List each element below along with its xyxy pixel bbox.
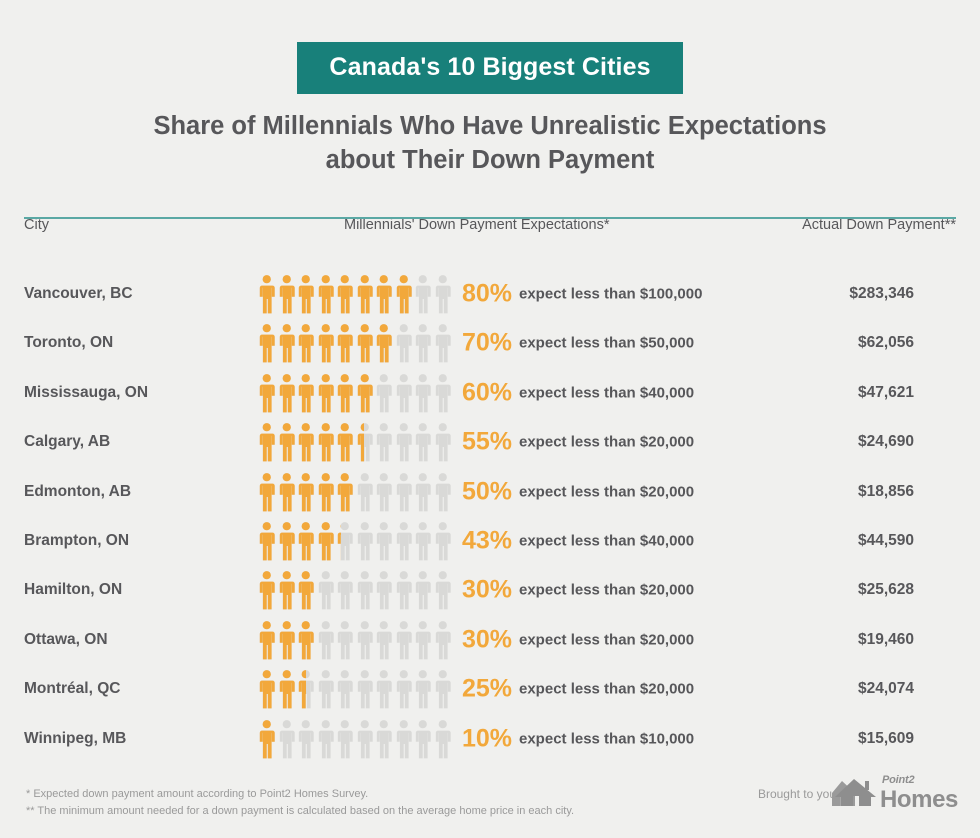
person-icon-empty bbox=[374, 373, 394, 413]
person-icon bbox=[257, 274, 277, 314]
person-icon-empty bbox=[433, 521, 453, 561]
person-icon bbox=[413, 274, 433, 314]
person-icon bbox=[316, 521, 336, 561]
person-icon bbox=[394, 570, 414, 610]
person-icon-empty bbox=[394, 472, 414, 512]
person-icon-filled bbox=[257, 620, 277, 660]
person-icon bbox=[355, 323, 375, 363]
person-icon-empty bbox=[355, 719, 375, 759]
person-icon bbox=[374, 323, 394, 363]
actual-down-payment: $24,690 bbox=[858, 433, 914, 451]
actual-down-payment: $47,621 bbox=[858, 384, 914, 402]
person-icon bbox=[394, 422, 414, 462]
table-row: Brampton, ON43%expect less than $40,000$… bbox=[0, 516, 980, 565]
person-icon bbox=[335, 570, 355, 610]
banner-title: Canada's 10 Biggest Cities bbox=[297, 42, 682, 94]
person-icon bbox=[374, 570, 394, 610]
person-icon bbox=[374, 719, 394, 759]
table-row: Calgary, AB55%expect less than $20,000$2… bbox=[0, 417, 980, 466]
table-row: Hamilton, ON30%expect less than $20,000$… bbox=[0, 566, 980, 615]
person-icon-filled bbox=[257, 521, 277, 561]
table-row: Edmonton, AB50%expect less than $20,000$… bbox=[0, 467, 980, 516]
person-icon-filled bbox=[335, 521, 341, 561]
person-icon-filled bbox=[316, 373, 336, 413]
person-icon-filled bbox=[316, 472, 336, 512]
person-icon-filled bbox=[355, 422, 365, 462]
person-icon bbox=[374, 422, 394, 462]
city-label: Edmonton, AB bbox=[24, 483, 131, 501]
person-icon bbox=[355, 521, 375, 561]
actual-down-payment: $283,346 bbox=[849, 285, 914, 303]
city-label: Mississauga, ON bbox=[24, 384, 148, 402]
person-icon bbox=[296, 274, 316, 314]
person-icon-filled bbox=[335, 472, 355, 512]
person-icon-empty bbox=[413, 719, 433, 759]
expectation-text: expect less than $20,000 bbox=[519, 582, 694, 599]
person-icon bbox=[374, 472, 394, 512]
person-icon bbox=[355, 422, 375, 462]
pictogram-group bbox=[257, 472, 452, 512]
person-icon-filled bbox=[316, 323, 336, 363]
city-label: Toronto, ON bbox=[24, 334, 113, 352]
person-icon bbox=[433, 422, 453, 462]
pictogram-group bbox=[257, 669, 452, 709]
person-icon-filled bbox=[394, 274, 414, 314]
person-icon bbox=[433, 323, 453, 363]
person-icon-empty bbox=[413, 570, 433, 610]
person-icon bbox=[355, 274, 375, 314]
percent-value: 43% bbox=[462, 526, 512, 555]
point2-homes-logo: Point2 Homes bbox=[831, 777, 958, 812]
house-icon bbox=[831, 777, 877, 812]
person-icon-filled bbox=[277, 570, 297, 610]
person-icon bbox=[316, 274, 336, 314]
person-icon bbox=[374, 373, 394, 413]
person-icon bbox=[433, 620, 453, 660]
person-icon-empty bbox=[413, 373, 433, 413]
infographic-header: Canada's 10 Biggest Cities Share of Mill… bbox=[0, 0, 980, 177]
person-icon bbox=[394, 620, 414, 660]
person-icon-empty bbox=[394, 422, 414, 462]
expectation-text: expect less than $100,000 bbox=[519, 286, 702, 303]
person-icon bbox=[296, 472, 316, 512]
person-icon bbox=[296, 620, 316, 660]
person-icon bbox=[277, 373, 297, 413]
person-icon-filled bbox=[296, 422, 316, 462]
person-icon-empty bbox=[316, 570, 336, 610]
person-icon bbox=[374, 521, 394, 561]
percent-value: 70% bbox=[462, 329, 512, 358]
person-icon-empty bbox=[433, 472, 453, 512]
person-icon-empty bbox=[394, 570, 414, 610]
person-icon bbox=[316, 719, 336, 759]
person-icon-empty bbox=[316, 669, 336, 709]
person-icon bbox=[335, 373, 355, 413]
header-divider-rule bbox=[24, 217, 956, 219]
person-icon-filled bbox=[374, 274, 394, 314]
person-icon-filled bbox=[257, 472, 277, 512]
person-icon bbox=[335, 620, 355, 660]
city-label: Ottawa, ON bbox=[24, 631, 108, 649]
person-icon-empty bbox=[277, 719, 297, 759]
pictogram-group bbox=[257, 620, 452, 660]
person-icon bbox=[355, 570, 375, 610]
table-row: Ottawa, ON30%expect less than $20,000$19… bbox=[0, 615, 980, 664]
person-icon bbox=[413, 521, 433, 561]
percent-value: 10% bbox=[462, 724, 512, 753]
person-icon bbox=[277, 669, 297, 709]
person-icon bbox=[355, 719, 375, 759]
person-icon-empty bbox=[433, 669, 453, 709]
person-icon bbox=[316, 373, 336, 413]
percent-value: 30% bbox=[462, 576, 512, 605]
person-icon-empty bbox=[335, 719, 355, 759]
person-icon-filled bbox=[257, 719, 277, 759]
subtitle-line-2: about Their Down Payment bbox=[326, 146, 655, 174]
person-icon bbox=[257, 570, 277, 610]
table-row: Toronto, ON70%expect less than $50,000$6… bbox=[0, 319, 980, 368]
person-icon-filled bbox=[374, 323, 394, 363]
person-icon bbox=[433, 472, 453, 512]
table-row: Mississauga, ON60%expect less than $40,0… bbox=[0, 368, 980, 417]
person-icon bbox=[316, 323, 336, 363]
person-icon-empty bbox=[413, 274, 433, 314]
pictogram-group bbox=[257, 521, 452, 561]
person-icon bbox=[355, 373, 375, 413]
actual-down-payment: $62,056 bbox=[858, 334, 914, 352]
person-icon-filled bbox=[257, 422, 277, 462]
person-icon-empty bbox=[355, 521, 375, 561]
person-icon-empty bbox=[433, 719, 453, 759]
pictogram-group bbox=[257, 570, 452, 610]
person-icon-filled bbox=[316, 521, 336, 561]
person-icon-empty bbox=[394, 521, 414, 561]
footnote-1: * Expected down payment amount according… bbox=[26, 786, 574, 803]
person-icon-filled bbox=[316, 422, 336, 462]
person-icon-filled bbox=[277, 521, 297, 561]
person-icon-empty bbox=[335, 570, 355, 610]
person-icon-filled bbox=[316, 274, 336, 314]
city-label: Montréal, QC bbox=[24, 680, 120, 698]
person-icon-empty bbox=[355, 472, 375, 512]
person-icon-empty bbox=[413, 323, 433, 363]
person-icon bbox=[316, 620, 336, 660]
expectation-text: expect less than $10,000 bbox=[519, 730, 694, 747]
person-icon bbox=[277, 719, 297, 759]
column-headers: City Millennials' Down Payment Expectati… bbox=[0, 217, 980, 263]
person-icon-empty bbox=[394, 719, 414, 759]
person-icon bbox=[296, 719, 316, 759]
expectation-text: expect less than $40,000 bbox=[519, 532, 694, 549]
person-icon bbox=[394, 719, 414, 759]
logo-point2-text: Point2 bbox=[882, 775, 914, 786]
person-icon-empty bbox=[316, 719, 336, 759]
person-icon-empty bbox=[433, 274, 453, 314]
person-icon bbox=[355, 620, 375, 660]
person-icon-empty bbox=[335, 669, 355, 709]
actual-down-payment: $25,628 bbox=[858, 581, 914, 599]
person-icon-filled bbox=[277, 620, 297, 660]
person-icon bbox=[335, 422, 355, 462]
person-icon bbox=[257, 323, 277, 363]
logo-wordmark: Point2 Homes bbox=[880, 788, 958, 812]
person-icon-filled bbox=[257, 373, 277, 413]
person-icon-filled bbox=[296, 570, 316, 610]
person-icon-empty bbox=[335, 620, 355, 660]
person-icon bbox=[433, 373, 453, 413]
person-icon-empty bbox=[374, 620, 394, 660]
person-icon-filled bbox=[355, 373, 375, 413]
person-icon-empty bbox=[355, 570, 375, 610]
person-icon bbox=[413, 373, 433, 413]
expectation-text: expect less than $20,000 bbox=[519, 681, 694, 698]
person-icon-empty bbox=[413, 620, 433, 660]
footnote-2: ** The minimum amount needed for a down … bbox=[26, 803, 574, 820]
person-icon bbox=[413, 472, 433, 512]
pictogram-group bbox=[257, 422, 452, 462]
percent-value: 60% bbox=[462, 378, 512, 407]
person-icon bbox=[335, 669, 355, 709]
person-icon bbox=[316, 669, 336, 709]
person-icon bbox=[316, 570, 336, 610]
expectation-text: expect less than $20,000 bbox=[519, 631, 694, 648]
person-icon-empty bbox=[374, 669, 394, 709]
city-label: Vancouver, BC bbox=[24, 285, 133, 303]
person-icon bbox=[433, 274, 453, 314]
person-icon-filled bbox=[277, 669, 297, 709]
percent-value: 30% bbox=[462, 625, 512, 654]
person-icon bbox=[277, 570, 297, 610]
person-icon-filled bbox=[257, 669, 277, 709]
person-icon-filled bbox=[277, 323, 297, 363]
person-icon bbox=[394, 373, 414, 413]
person-icon bbox=[257, 719, 277, 759]
person-icon-filled bbox=[335, 323, 355, 363]
person-icon-filled bbox=[277, 472, 297, 512]
percent-value: 80% bbox=[462, 280, 512, 309]
person-icon bbox=[257, 620, 277, 660]
person-icon bbox=[277, 521, 297, 561]
person-icon bbox=[394, 521, 414, 561]
person-icon-empty bbox=[316, 620, 336, 660]
person-icon-filled bbox=[355, 274, 375, 314]
person-icon bbox=[394, 669, 414, 709]
page-title: Share of Millennials Who Have Unrealisti… bbox=[130, 110, 850, 177]
pictogram-group bbox=[257, 719, 452, 759]
person-icon-filled bbox=[296, 620, 316, 660]
expectation-text: expect less than $50,000 bbox=[519, 335, 694, 352]
person-icon bbox=[296, 373, 316, 413]
person-icon-filled bbox=[257, 274, 277, 314]
person-icon bbox=[394, 274, 414, 314]
expectation-text: expect less than $20,000 bbox=[519, 434, 694, 451]
table-row: Montréal, QC25%expect less than $20,000$… bbox=[0, 664, 980, 713]
person-icon-filled bbox=[335, 422, 355, 462]
person-icon-empty bbox=[374, 472, 394, 512]
infographic-footer: * Expected down payment amount according… bbox=[0, 770, 980, 828]
column-header-actual: Actual Down Payment** bbox=[802, 217, 956, 233]
person-icon-empty bbox=[413, 422, 433, 462]
person-icon bbox=[413, 323, 433, 363]
footnotes: * Expected down payment amount according… bbox=[26, 786, 574, 820]
person-icon bbox=[374, 669, 394, 709]
person-icon bbox=[433, 570, 453, 610]
person-icon bbox=[413, 669, 433, 709]
person-icon bbox=[257, 521, 277, 561]
person-icon bbox=[394, 323, 414, 363]
actual-down-payment: $19,460 bbox=[858, 631, 914, 649]
percent-value: 25% bbox=[462, 675, 512, 704]
person-icon bbox=[257, 422, 277, 462]
person-icon-empty bbox=[394, 373, 414, 413]
person-icon-filled bbox=[296, 323, 316, 363]
city-label: Winnipeg, MB bbox=[24, 730, 126, 748]
person-icon-empty bbox=[374, 422, 394, 462]
person-icon-filled bbox=[277, 274, 297, 314]
person-icon bbox=[296, 669, 316, 709]
person-icon-filled bbox=[257, 323, 277, 363]
person-icon bbox=[433, 521, 453, 561]
person-icon bbox=[433, 669, 453, 709]
expectation-text: expect less than $20,000 bbox=[519, 483, 694, 500]
person-icon bbox=[296, 323, 316, 363]
person-icon-empty bbox=[413, 472, 433, 512]
person-icon-filled bbox=[296, 274, 316, 314]
person-icon-filled bbox=[355, 323, 375, 363]
person-icon-empty bbox=[413, 521, 433, 561]
person-icon-empty bbox=[355, 620, 375, 660]
percent-value: 50% bbox=[462, 477, 512, 506]
person-icon bbox=[296, 521, 316, 561]
person-icon bbox=[374, 620, 394, 660]
pictogram-group bbox=[257, 274, 452, 314]
person-icon-filled bbox=[296, 521, 316, 561]
person-icon-empty bbox=[433, 323, 453, 363]
person-icon-filled bbox=[335, 373, 355, 413]
person-icon-filled bbox=[277, 422, 297, 462]
pictogram-group bbox=[257, 373, 452, 413]
person-icon bbox=[433, 719, 453, 759]
person-icon bbox=[277, 422, 297, 462]
person-icon bbox=[316, 422, 336, 462]
table-row: Winnipeg, MB10%expect less than $10,000$… bbox=[0, 714, 980, 763]
person-icon-filled bbox=[296, 669, 306, 709]
actual-down-payment: $15,609 bbox=[858, 730, 914, 748]
person-icon bbox=[296, 570, 316, 610]
person-icon-empty bbox=[374, 521, 394, 561]
person-icon-empty bbox=[374, 570, 394, 610]
person-icon bbox=[335, 521, 355, 561]
person-icon bbox=[355, 472, 375, 512]
person-icon-empty bbox=[433, 620, 453, 660]
column-header-city: City bbox=[24, 217, 49, 233]
person-icon bbox=[277, 274, 297, 314]
person-icon-empty bbox=[394, 323, 414, 363]
person-icon-empty bbox=[413, 669, 433, 709]
subtitle-line-1: Share of Millennials Who Have Unrealisti… bbox=[153, 112, 826, 140]
person-icon-empty bbox=[433, 570, 453, 610]
person-icon bbox=[257, 373, 277, 413]
person-icon-empty bbox=[394, 669, 414, 709]
person-icon-empty bbox=[433, 373, 453, 413]
person-icon-empty bbox=[296, 719, 316, 759]
person-icon bbox=[413, 620, 433, 660]
person-icon bbox=[277, 620, 297, 660]
data-rows: Vancouver, BC80%expect less than $100,00… bbox=[0, 269, 980, 763]
person-icon bbox=[394, 472, 414, 512]
person-icon bbox=[335, 323, 355, 363]
person-icon-empty bbox=[394, 620, 414, 660]
person-icon-empty bbox=[355, 669, 375, 709]
person-icon-empty bbox=[433, 422, 453, 462]
person-icon bbox=[335, 472, 355, 512]
person-icon bbox=[296, 422, 316, 462]
person-icon-filled bbox=[335, 274, 355, 314]
person-icon bbox=[335, 719, 355, 759]
actual-down-payment: $44,590 bbox=[858, 532, 914, 550]
person-icon bbox=[335, 274, 355, 314]
person-icon-filled bbox=[257, 570, 277, 610]
pictogram-group bbox=[257, 323, 452, 363]
city-label: Hamilton, ON bbox=[24, 581, 122, 599]
person-icon-filled bbox=[296, 373, 316, 413]
person-icon bbox=[374, 274, 394, 314]
city-label: Brampton, ON bbox=[24, 532, 129, 550]
actual-down-payment: $24,074 bbox=[858, 680, 914, 698]
person-icon-empty bbox=[374, 719, 394, 759]
person-icon bbox=[413, 570, 433, 610]
city-label: Calgary, AB bbox=[24, 433, 110, 451]
column-header-expectations: Millennials' Down Payment Expectations* bbox=[344, 217, 610, 233]
person-icon-filled bbox=[296, 472, 316, 512]
person-icon bbox=[257, 472, 277, 512]
person-icon-filled bbox=[277, 373, 297, 413]
person-icon bbox=[277, 323, 297, 363]
logo-homes-text: Homes bbox=[880, 786, 958, 813]
actual-down-payment: $18,856 bbox=[858, 483, 914, 501]
person-icon bbox=[413, 422, 433, 462]
person-icon bbox=[355, 669, 375, 709]
person-icon bbox=[316, 472, 336, 512]
percent-value: 55% bbox=[462, 428, 512, 457]
person-icon bbox=[413, 719, 433, 759]
expectation-text: expect less than $40,000 bbox=[519, 384, 694, 401]
person-icon bbox=[257, 669, 277, 709]
table-row: Vancouver, BC80%expect less than $100,00… bbox=[0, 269, 980, 318]
person-icon bbox=[277, 472, 297, 512]
